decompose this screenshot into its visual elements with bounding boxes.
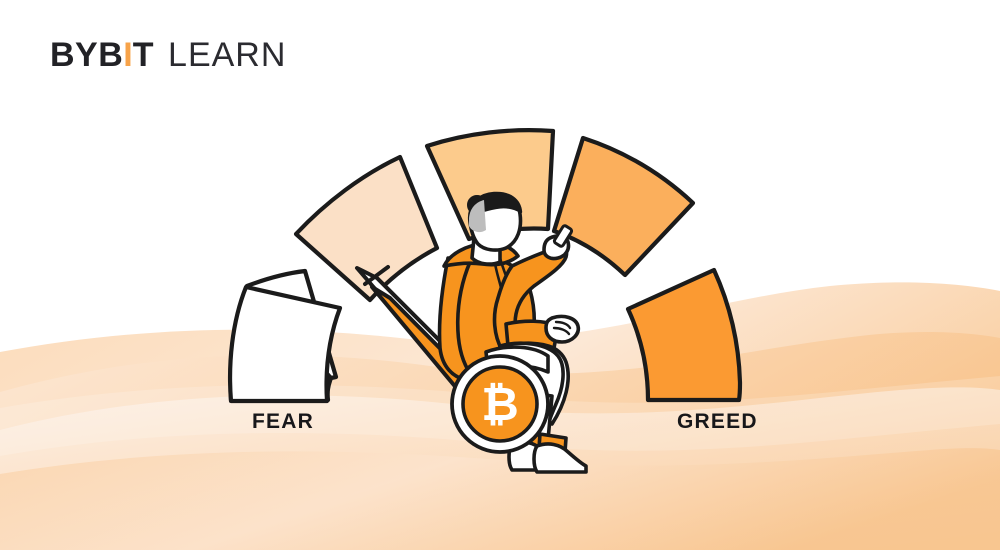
bitcoin-symbol-icon: ₿ [481, 378, 519, 430]
gauge-label-fear: FEAR [252, 410, 314, 434]
illustration-canvas: BYB I T LEARN [0, 0, 1000, 550]
character-shoe-front [534, 444, 586, 472]
gauge-label-greed: GREED [677, 410, 758, 434]
gauge-segment-extreme-fear-body[interactable] [230, 287, 340, 401]
character-illustration [439, 193, 586, 472]
gauge-segment-extreme-greed[interactable] [628, 270, 740, 400]
fear-greed-gauge-illustration: ₿ [0, 0, 1000, 550]
gauge-segment-greed[interactable] [554, 138, 693, 275]
